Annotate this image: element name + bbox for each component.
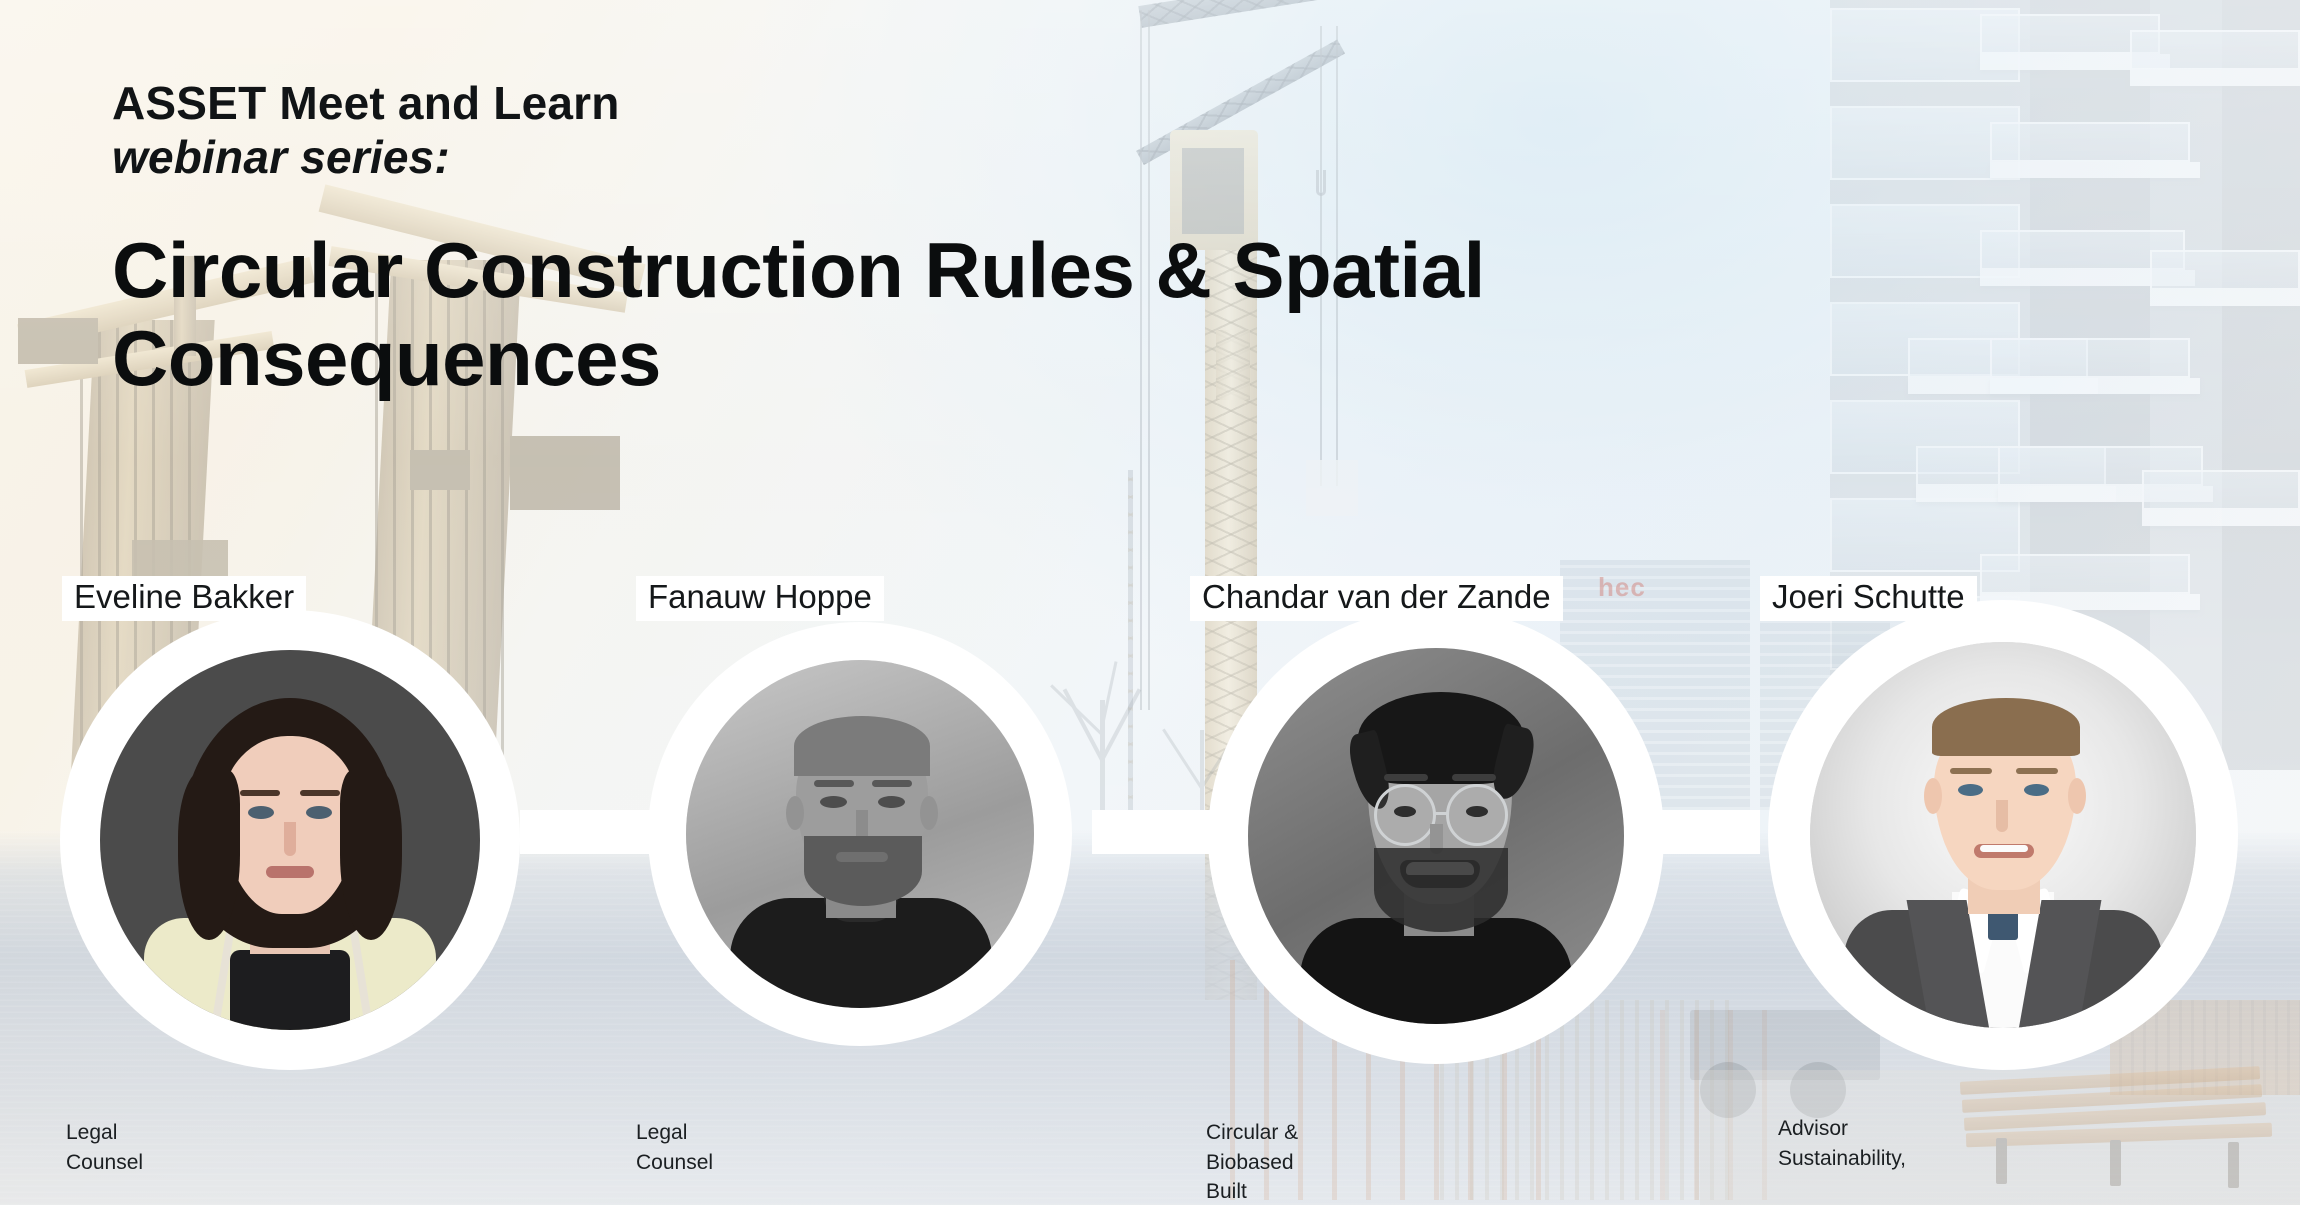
- ring-connector: [520, 810, 650, 854]
- role-line: Legal Counsel: [636, 1118, 764, 1178]
- speaker-name: Joeri Schutte: [1760, 576, 1977, 621]
- speaker-role: Advisor Sustainability, Developer and Co…: [1778, 1084, 1906, 1205]
- role-line: Advisor Sustainability,: [1778, 1114, 1906, 1174]
- ring-connector: [1092, 810, 1212, 854]
- speaker-name: Fanauw Hoppe: [636, 576, 884, 621]
- speaker-role: Legal Counsel Circular Economy& Sustaina…: [636, 1088, 764, 1205]
- speaker-role: Circular & Biobased Built Environment, C…: [1206, 1088, 1330, 1205]
- speaker-name: Eveline Bakker: [62, 576, 306, 621]
- kicker-line-1: ASSET Meet and Learn: [112, 78, 1672, 130]
- headline-block: ASSET Meet and Learn webinar series: Cir…: [112, 78, 1672, 402]
- webinar-banner: hec: [0, 0, 2300, 1205]
- portrait-fanauw-hoppe: [686, 660, 1034, 1008]
- kicker-line-2: webinar series:: [112, 130, 1672, 184]
- role-line: Legal Counsel: [66, 1118, 194, 1178]
- portrait-chandar-van-der-zande: [1248, 648, 1624, 1024]
- portrait-eveline-bakker: [100, 650, 480, 1030]
- role-line: Circular & Biobased Built Environment,: [1206, 1118, 1330, 1205]
- speaker-name: Chandar van der Zande: [1190, 576, 1563, 621]
- portrait-joeri-schutte: [1810, 642, 2196, 1028]
- speaker-role: Legal Counsel Circular Economy& Sustaina…: [66, 1088, 194, 1205]
- page-title: Circular Construction Rules & Spatial Co…: [112, 226, 1672, 402]
